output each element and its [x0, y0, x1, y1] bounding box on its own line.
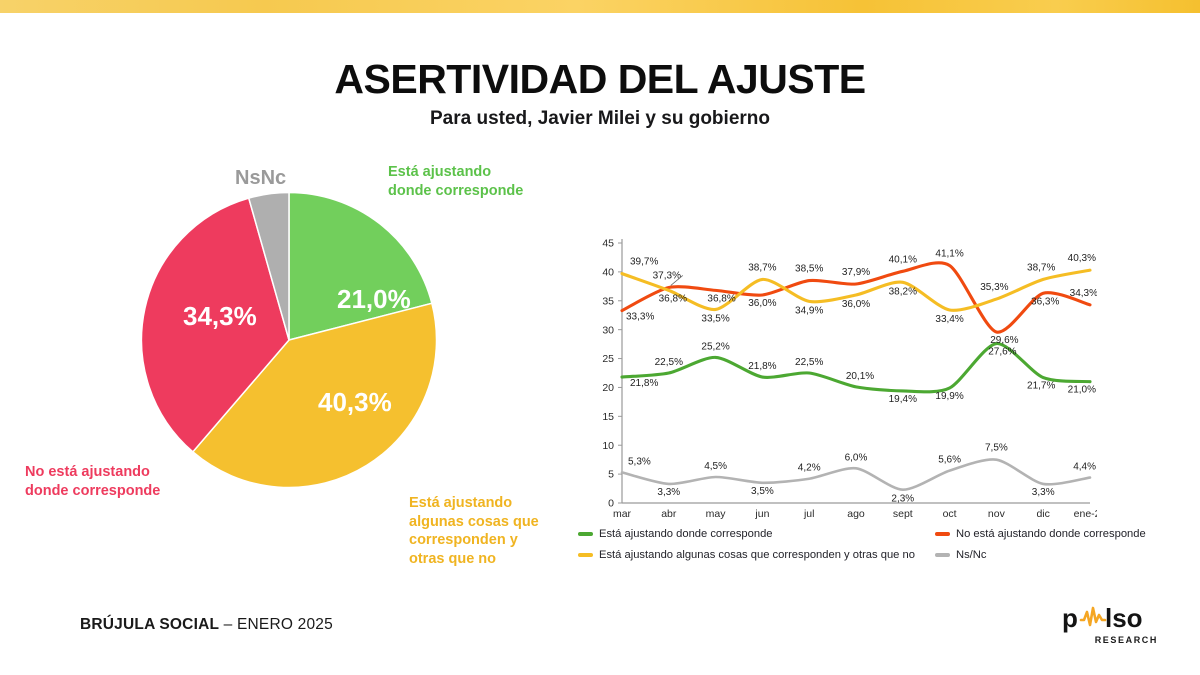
pie-label-pink-line2: donde corresponde [25, 482, 160, 501]
x-tick-label-5: ago [847, 508, 865, 520]
point-label-s1-4: 38,5% [795, 264, 823, 275]
pie-chart [141, 192, 437, 488]
point-label-s1-9: 36,3% [1031, 296, 1059, 307]
slide-root: ASERTIVIDAD DEL AJUSTE Para usted, Javie… [0, 0, 1200, 675]
pulso-logo-mark: p lso [1062, 604, 1158, 634]
y-tick-label: 15 [602, 411, 614, 423]
point-label-s0-5: 20,1% [846, 371, 874, 382]
pie-label-pink: No está ajustando donde corresponde [25, 463, 160, 500]
pie-label-green: Está ajustando donde corresponde [388, 163, 523, 200]
series-line-3 [622, 459, 1090, 489]
pie-label-yellow-line4: otras que no [409, 550, 539, 569]
legend-label-2: Está ajustando algunas cosas que corresp… [599, 549, 915, 561]
x-tick-label-6: sept [893, 508, 913, 520]
pie-value-green: 21,0% [337, 284, 411, 315]
point-label-s0-2: 25,2% [701, 341, 729, 352]
legend-label-0: Está ajustando donde corresponde [599, 528, 773, 540]
point-label-s0-1: 22,5% [655, 357, 683, 368]
footer-separator: – [219, 616, 237, 633]
pulso-research-logo: p lso RESEARCH [1062, 604, 1158, 648]
x-tick-label-4: jul [803, 508, 815, 520]
pie-chart-svg [141, 192, 437, 488]
legend-item-0[interactable]: Está ajustando donde corresponde [578, 528, 773, 540]
page-subtitle: Para usted, Javier Milei y su gobierno [0, 108, 1200, 130]
x-tick-label-9: dic [1036, 508, 1049, 520]
logo-waveform-icon [1081, 608, 1105, 625]
top-accent-bar [0, 0, 1200, 13]
line-chart: 051015202530354045 21,8%22,5%25,2%21,8%2… [592, 232, 1097, 522]
page-title: ASERTIVIDAD DEL AJUSTE [0, 56, 1200, 103]
logo-letter-p: p [1062, 604, 1078, 633]
legend-item-1[interactable]: No está ajustando donde corresponde [935, 528, 1146, 540]
pie-label-green-line1: Está ajustando [388, 163, 523, 182]
legend-swatch-yellow [578, 553, 593, 556]
y-tick-label: 30 [602, 324, 614, 336]
x-tick-label-0: mar [613, 508, 632, 520]
x-tick-label-8: nov [988, 508, 1006, 520]
logo-letters-lso: lso [1105, 604, 1143, 633]
legend-label-3: Ns/Nc [956, 549, 986, 561]
point-label-s1-8: 29,6% [990, 335, 1018, 346]
legend-swatch-red [935, 532, 950, 535]
pie-value-yellow: 40,3% [318, 387, 392, 418]
point-label-s0-3: 21,8% [748, 361, 776, 372]
point-label-s1-1: 37,3% [653, 270, 681, 281]
point-label-s3-2: 4,5% [704, 461, 727, 472]
y-tick-label: 20 [602, 382, 614, 394]
point-label-s2-8: 35,3% [980, 282, 1008, 293]
point-label-s0-0: 21,8% [630, 378, 658, 389]
y-tick-label: 5 [608, 469, 614, 481]
point-label-s2-9: 38,7% [1027, 262, 1055, 273]
point-label-s3-7: 5,6% [938, 455, 961, 466]
y-tick-label: 40 [602, 266, 614, 278]
legend-item-2[interactable]: Está ajustando algunas cosas que corresp… [578, 549, 915, 561]
line-chart-x-tick-labels: marabrmayjunjulagoseptoctnovdicene-25 [613, 508, 1097, 520]
point-label-s0-7: 19,9% [935, 391, 963, 402]
point-label-s2-1: 36,8% [659, 293, 687, 304]
point-label-s1-0: 33,3% [626, 312, 654, 323]
pie-label-yellow: Está ajustando algunas cosas que corresp… [409, 494, 539, 568]
x-tick-label-7: oct [943, 508, 957, 520]
point-label-s0-6: 19,4% [889, 394, 917, 405]
point-label-s2-10: 40,3% [1068, 253, 1096, 264]
pie-label-yellow-line2: algunas cosas que [409, 513, 539, 532]
legend-label-1: No está ajustando donde corresponde [956, 528, 1146, 540]
y-tick-label: 35 [602, 295, 614, 307]
point-label-s0-8: 27,6% [988, 347, 1016, 358]
x-tick-label-1: abr [661, 508, 677, 520]
footer-period: ENERO 2025 [237, 616, 333, 633]
point-label-s1-3: 36,0% [748, 298, 776, 309]
point-label-s2-2: 33,5% [701, 313, 729, 324]
point-label-s0-10: 21,0% [1068, 385, 1096, 396]
point-label-s1-5: 37,9% [842, 267, 870, 278]
pie-label-pink-line1: No está ajustando [25, 463, 160, 482]
x-tick-label-10: ene-25 [1074, 508, 1097, 520]
x-tick-label-2: may [706, 508, 727, 520]
pie-slices [141, 193, 436, 488]
point-label-s1-2: 36,8% [707, 293, 735, 304]
pie-label-nsnc: NsNc [235, 166, 286, 192]
pie-label-yellow-line1: Está ajustando [409, 494, 539, 513]
point-label-s3-6: 2,3% [891, 494, 914, 505]
point-label-s3-9: 3,3% [1032, 487, 1055, 498]
point-label-s2-4: 34,9% [795, 305, 823, 316]
y-tick-label: 25 [602, 353, 614, 365]
chart-legend: Está ajustando donde corresponde No está… [578, 528, 1178, 572]
point-label-s3-5: 6,0% [845, 452, 868, 463]
point-label-s1-7: 41,1% [935, 249, 963, 260]
point-label-s3-0: 5,3% [628, 456, 651, 467]
point-label-s1-10: 34,3% [1070, 288, 1097, 299]
point-label-s3-1: 3,3% [657, 487, 680, 498]
pie-label-yellow-line3: corresponden y [409, 531, 539, 550]
point-label-s2-0: 39,7% [630, 257, 658, 268]
point-label-s2-3: 38,7% [748, 262, 776, 273]
logo-subtitle: RESEARCH [1095, 635, 1158, 645]
point-label-s2-7: 33,4% [935, 314, 963, 325]
legend-swatch-green [578, 532, 593, 535]
pie-label-green-line2: donde corresponde [388, 182, 523, 201]
pie-value-pink: 34,3% [183, 301, 257, 332]
point-label-s0-4: 22,5% [795, 357, 823, 368]
x-tick-label-3: jun [754, 508, 769, 520]
footer-brand: BRÚJULA SOCIAL [80, 616, 219, 633]
y-tick-label: 45 [602, 238, 614, 250]
point-label-s3-8: 7,5% [985, 443, 1008, 454]
point-label-s3-3: 3,5% [751, 486, 774, 497]
point-label-s2-5: 36,0% [842, 299, 870, 310]
point-label-s3-10: 4,4% [1073, 462, 1096, 473]
point-label-s0-9: 21,7% [1027, 381, 1055, 392]
point-label-s2-6: 38,2% [889, 286, 917, 297]
point-label-s1-6: 40,1% [889, 254, 917, 265]
series-line-0 [622, 343, 1090, 391]
legend-swatch-gray [935, 553, 950, 556]
point-label-s3-4: 4,2% [798, 463, 821, 474]
footer-caption: BRÚJULA SOCIAL – ENERO 2025 [80, 616, 333, 634]
y-tick-label: 10 [602, 440, 614, 452]
legend-item-3[interactable]: Ns/Nc [935, 549, 986, 561]
